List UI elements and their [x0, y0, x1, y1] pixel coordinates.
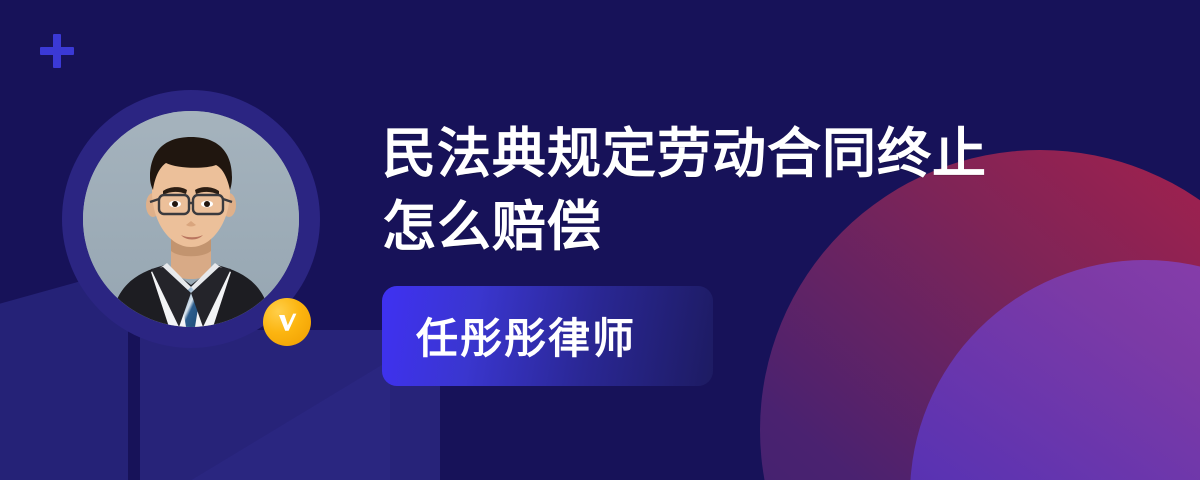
content-column: 民法典规定劳动合同终止 怎么赔偿 任彤彤律师 — [382, 118, 1102, 386]
angular-polygon-left-bottom — [175, 360, 390, 480]
lawyer-promo-banner: 民法典规定劳动合同终止 怎么赔偿 任彤彤律师 — [0, 0, 1200, 480]
avatar[interactable] — [62, 90, 320, 348]
lawyer-name-button[interactable]: 任彤彤律师 — [382, 286, 713, 386]
avatar-photo — [83, 111, 299, 327]
plus-icon — [40, 34, 74, 68]
verified-v-badge-icon — [263, 298, 311, 346]
page-title: 民法典规定劳动合同终止 怎么赔偿 — [382, 118, 1102, 264]
